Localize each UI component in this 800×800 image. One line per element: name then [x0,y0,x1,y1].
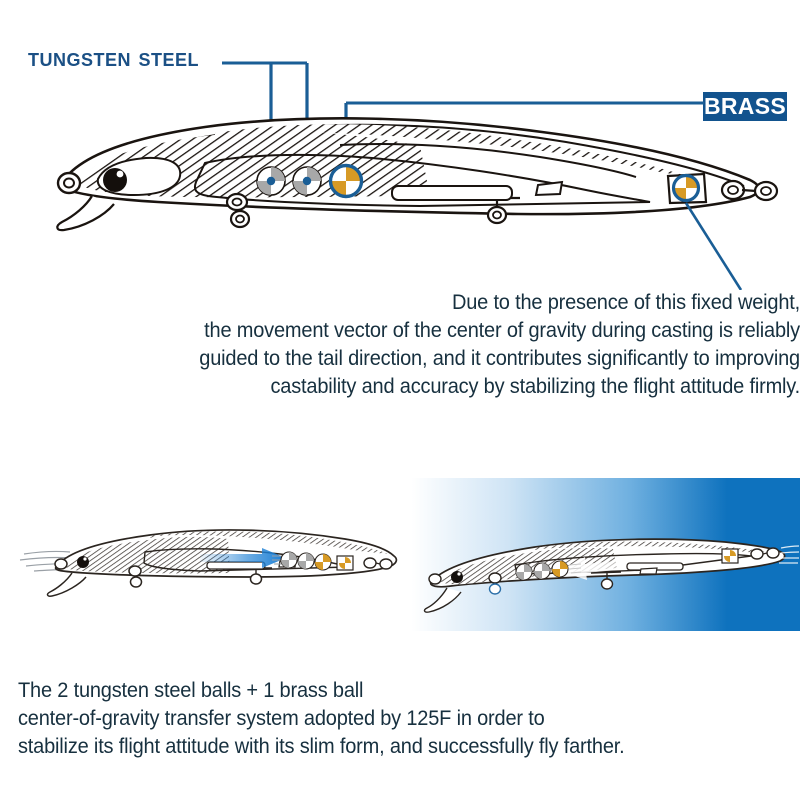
small-eyelet-front2-right [490,584,501,594]
lure-body [57,118,777,230]
lure-eye-highlight [117,171,124,178]
small-eyelet-rear-right [602,579,613,589]
lure-eye [103,168,127,192]
small-lure-swimming [395,472,800,632]
brass-ball [331,166,362,197]
small-lure-eye-left [77,556,89,568]
small-tungsten-ball-1-right [516,564,532,580]
infographic-stage: Tungsten Steel BRASS [0,0,800,800]
small-eyelet-front2-left [131,577,142,587]
bottom-paragraph: The 2 tungsten steel balls + 1 brass bal… [18,676,745,760]
main-paragraph-line-2: the movement vector of the center of gra… [73,316,800,344]
main-lure-diagram [0,0,800,290]
brass-fixed-weight [674,176,699,201]
hook-eyelet-front [227,194,249,227]
small-lure-eye-right [451,571,463,583]
small-eyelet-front-right [489,573,501,583]
small-lure-nose-ring-left [55,559,67,569]
small-brass-fixed-right [722,549,738,563]
small-brass-fixed-left [337,556,353,570]
small-brass-ball-right [552,561,568,577]
tungsten-ball-2 [293,167,321,195]
small-wedge-right [640,568,657,574]
small-eyelet-front-left [129,566,141,576]
small-tungsten-ball-2-left [298,553,314,569]
small-slot-left [207,562,265,569]
small-lure-nose-ring-right [429,574,441,584]
tungsten-ball-1 [257,167,285,195]
lure-lip [57,196,114,230]
small-lure-eye-highlight-right [457,572,460,575]
small-tungsten-ball-2-right [534,563,550,579]
main-paragraph-line-4: castability and accuracy by stabilizing … [73,372,800,400]
main-paragraph: Due to the presence of this fixed weight… [73,288,800,400]
bottom-paragraph-line-3: stabilize its flight attitude with its s… [18,732,745,760]
internal-wedge [536,182,562,195]
small-lure-casting [0,472,400,632]
small-tungsten-ball-1-left [281,552,297,568]
nose-ring-inner [64,179,74,188]
main-paragraph-line-3: guided to the tail direction, and it con… [73,344,800,372]
internal-slot [392,186,512,200]
small-lure-lip-left [48,573,86,596]
small-lure-eye-highlight-left [83,557,86,560]
leader-brass-fixed [686,203,741,290]
main-paragraph-line-1: Due to the presence of this fixed weight… [73,288,800,316]
small-brass-ball-left [315,554,331,570]
bottom-paragraph-line-2: center-of-gravity transfer system adopte… [18,704,745,732]
small-eyelet-rear-left [251,574,262,584]
small-lure-lip-right [425,588,461,612]
bottom-paragraph-line-1: The 2 tungsten steel balls + 1 brass bal… [18,676,745,704]
